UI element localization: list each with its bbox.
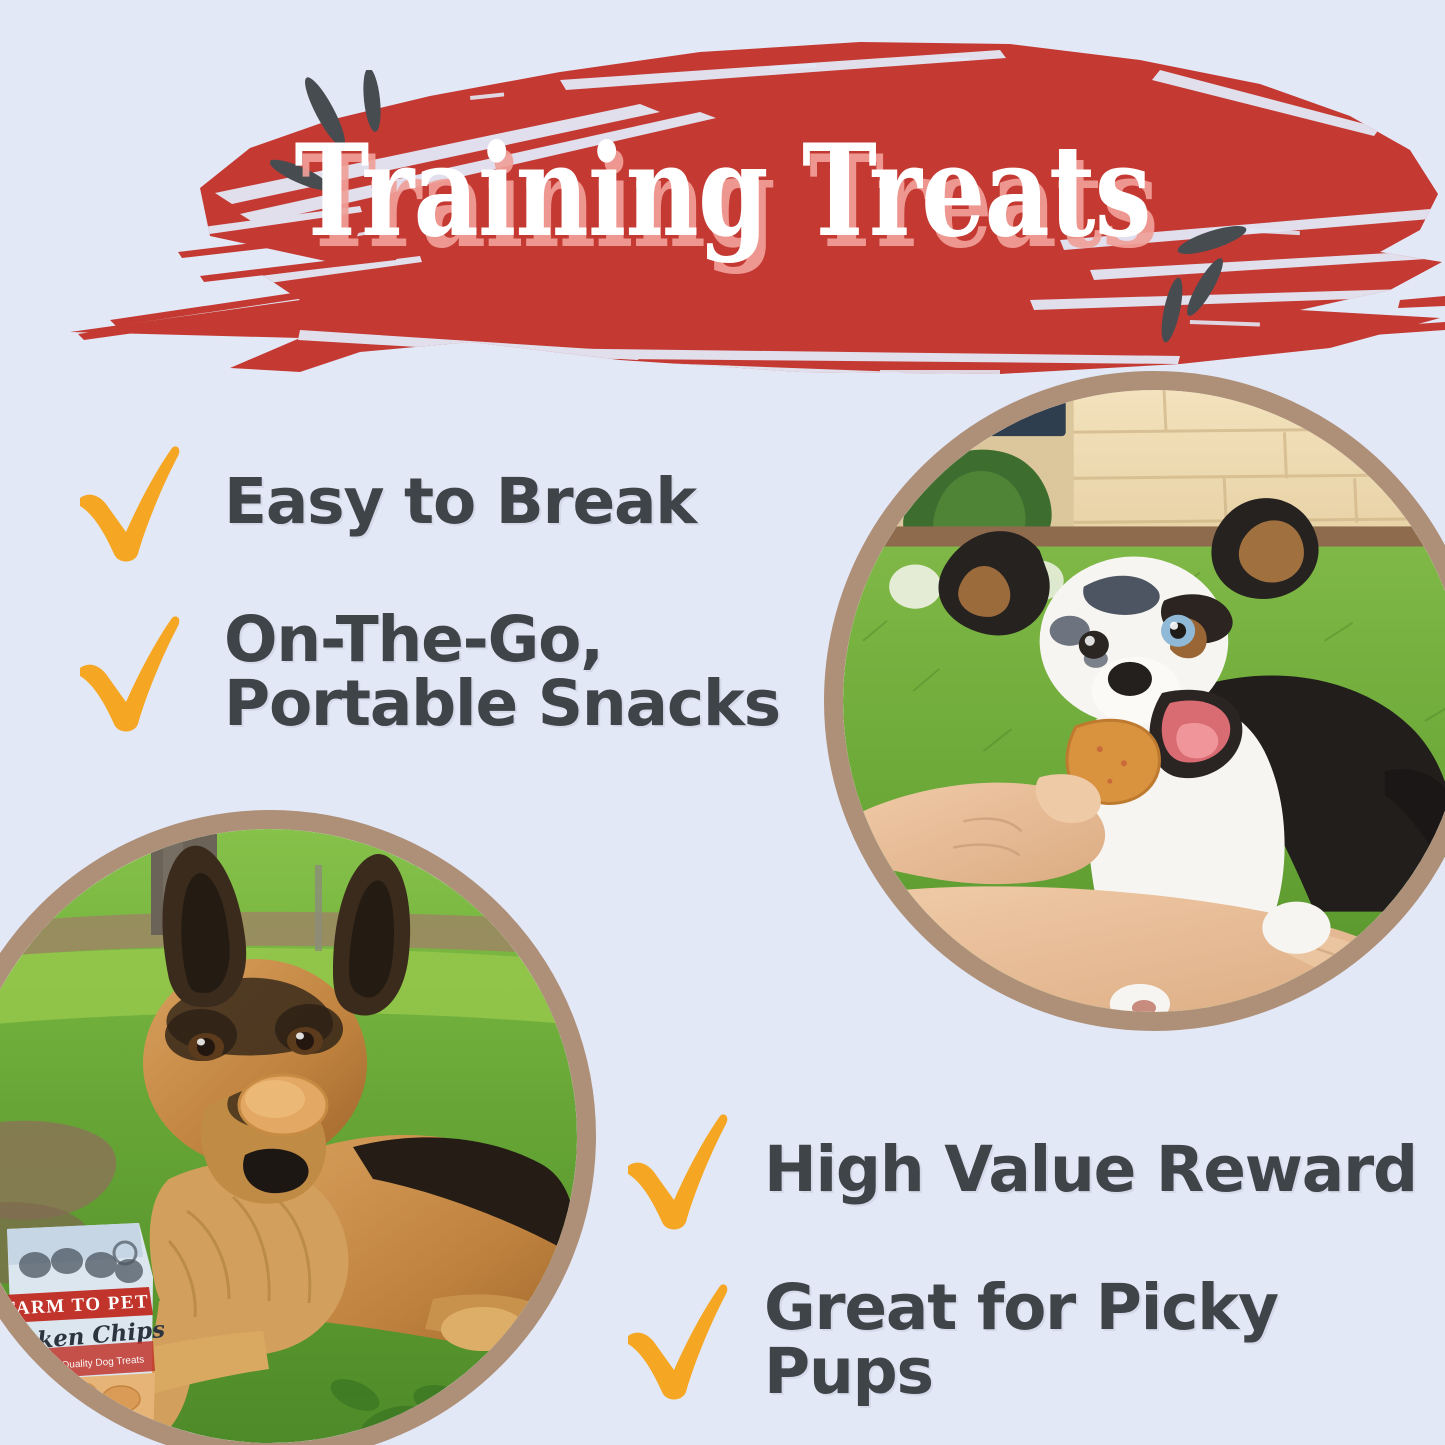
check-icon <box>72 440 182 565</box>
photo-german-shepherd-balancing-treat: FARM TO PET Chicken Chips Made with Qual… <box>0 810 596 1445</box>
check-icon <box>620 1108 730 1233</box>
feature-item-easy-to-break: Easy to Break <box>72 440 696 565</box>
header-banner: Training Treats <box>0 0 1445 400</box>
photo-frame <box>843 390 1445 1012</box>
spark-dash-icon <box>1182 254 1229 319</box>
feature-item-great-for-picky-pups: Great for Picky Pups <box>620 1276 1445 1405</box>
photo-illustration: FARM TO PET Chicken Chips Made with Qual… <box>0 829 577 1443</box>
photo-aussie-catching-treat <box>824 371 1445 1031</box>
page-title: Training Treats <box>145 128 1301 254</box>
feature-label: High Value Reward <box>764 1138 1417 1202</box>
poster-canvas: Training Treats <box>0 0 1445 1445</box>
product-package: FARM TO PET Chicken Chips Made with Qual… <box>0 1223 166 1443</box>
feature-label: Easy to Break <box>224 470 696 534</box>
feature-item-high-value-reward: High Value Reward <box>620 1108 1417 1233</box>
feature-item-on-the-go-portable-snacks: On-The-Go, Portable Snacks <box>72 608 780 737</box>
feature-label: Great for Picky Pups <box>764 1276 1445 1405</box>
photo-illustration <box>843 390 1445 1012</box>
check-icon <box>72 610 182 735</box>
photo-frame: FARM TO PET Chicken Chips Made with Qual… <box>0 829 577 1443</box>
spark-dash-icon <box>1157 276 1186 344</box>
check-icon <box>620 1278 730 1403</box>
feature-label: On-The-Go, Portable Snacks <box>224 608 780 737</box>
